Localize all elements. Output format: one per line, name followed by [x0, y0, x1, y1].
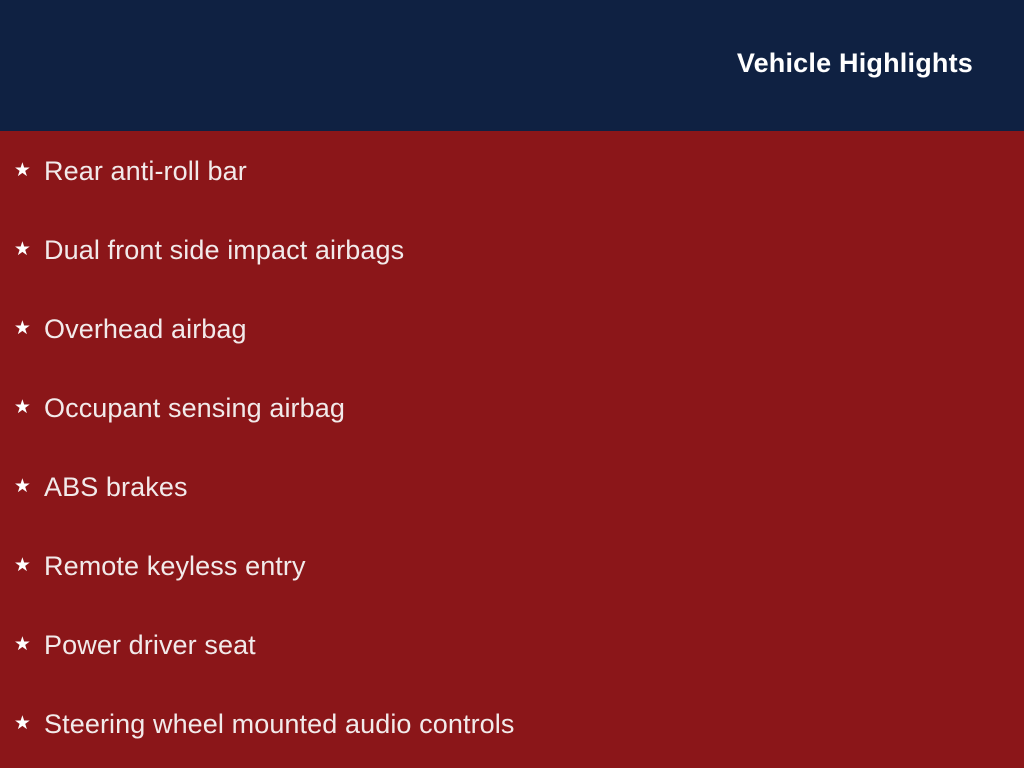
list-item: ★ ABS brakes	[0, 447, 1024, 526]
slide: Vehicle Highlights ★ Rear anti-roll bar …	[0, 0, 1024, 768]
page-title: Vehicle Highlights	[737, 46, 973, 80]
list-item-label: Overhead airbag	[44, 312, 247, 346]
list-item-label: Steering wheel mounted audio controls	[44, 707, 515, 741]
list-item-label: ABS brakes	[44, 470, 188, 504]
list-item: ★ Rear anti-roll bar	[0, 131, 1024, 210]
star-icon: ★	[13, 633, 32, 657]
star-icon: ★	[13, 159, 32, 183]
list-item: ★ Remote keyless entry	[0, 526, 1024, 605]
star-icon: ★	[13, 554, 32, 578]
list-item: ★ Dual front side impact airbags	[0, 210, 1024, 289]
list-item: ★ Steering wheel mounted audio controls	[0, 684, 1024, 763]
list-item-label: Remote keyless entry	[44, 549, 306, 583]
list-item: ★ Power driver seat	[0, 605, 1024, 684]
vehicle-highlights-list: ★ Rear anti-roll bar ★ Dual front side i…	[0, 131, 1024, 763]
star-icon: ★	[13, 712, 32, 736]
list-item: ★ Occupant sensing airbag	[0, 368, 1024, 447]
list-item-label: Dual front side impact airbags	[44, 233, 404, 267]
list-item-label: Rear anti-roll bar	[44, 154, 247, 188]
star-icon: ★	[13, 396, 32, 420]
star-icon: ★	[13, 238, 32, 262]
list-item-label: Power driver seat	[44, 628, 256, 662]
list-item-label: Occupant sensing airbag	[44, 391, 345, 425]
slide-header: Vehicle Highlights	[0, 0, 1024, 131]
star-icon: ★	[13, 317, 32, 341]
star-icon: ★	[13, 475, 32, 499]
list-item: ★ Overhead airbag	[0, 289, 1024, 368]
